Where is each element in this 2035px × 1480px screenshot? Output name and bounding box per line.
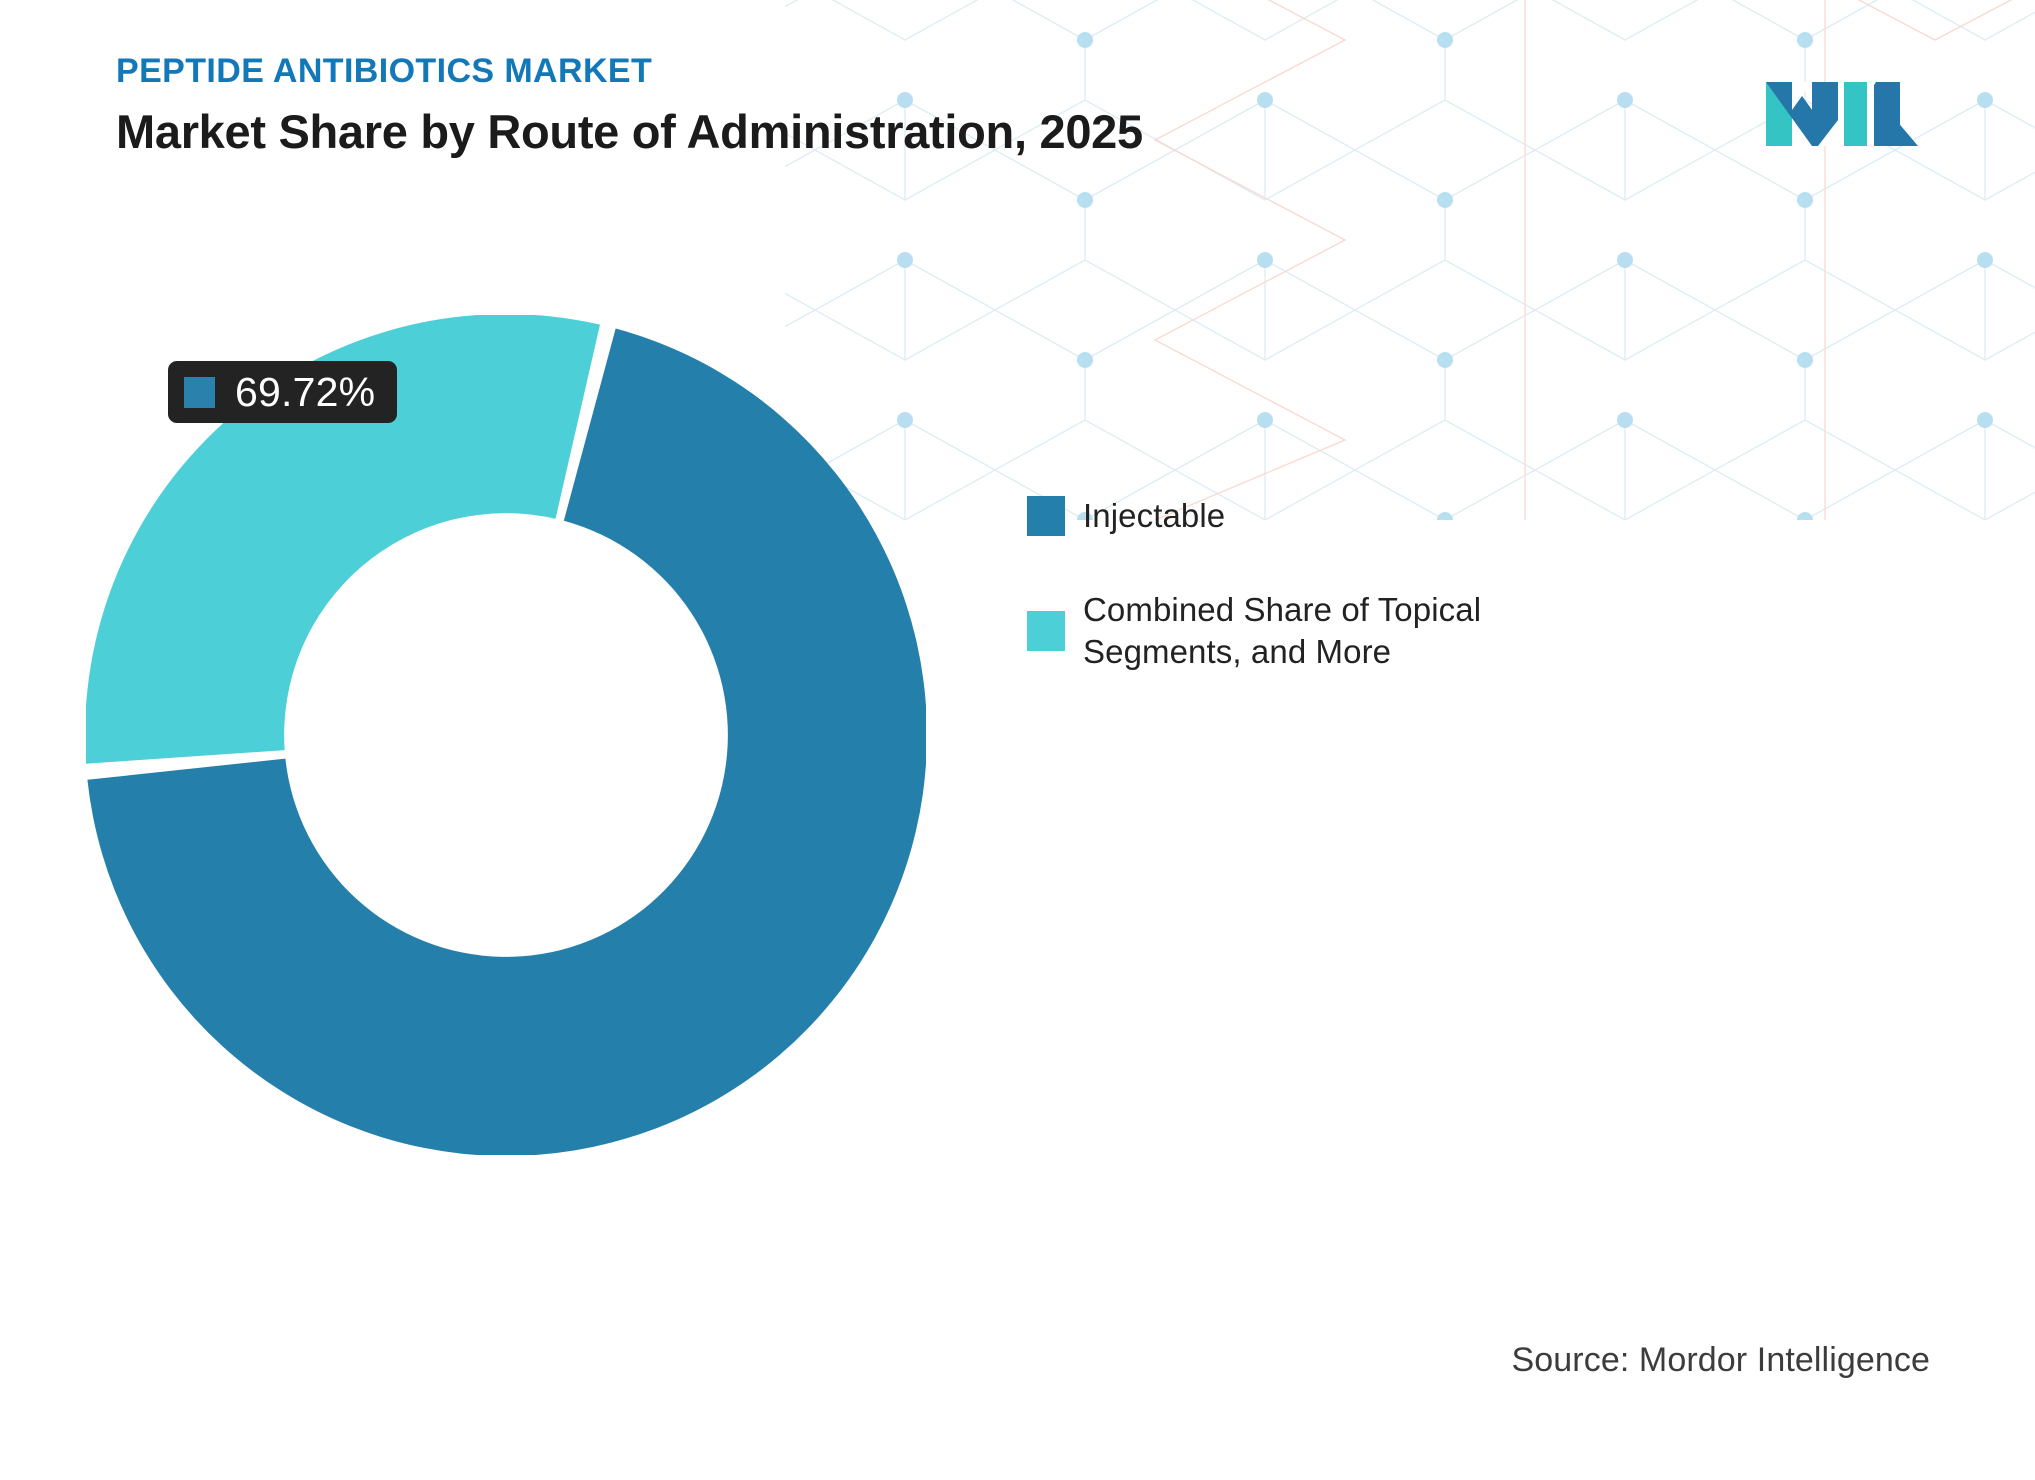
donut-chart <box>86 315 926 1155</box>
legend-item-injectable[interactable]: Injectable <box>1027 495 1667 537</box>
data-label-callout: 69.72% <box>168 361 397 423</box>
mordor-intelligence-logo-icon <box>1766 74 1918 154</box>
legend-item-combined-topical[interactable]: Combined Share of Topical Segments, and … <box>1027 589 1667 673</box>
callout-color-swatch <box>184 377 215 408</box>
legend-swatch-combined-topical <box>1027 611 1065 651</box>
legend-label-combined-topical: Combined Share of Topical Segments, and … <box>1083 589 1513 673</box>
chart-legend: Injectable Combined Share of Topical Seg… <box>1027 495 1667 726</box>
chart-header: PEPTIDE ANTIBIOTICS MARKET Market Share … <box>116 50 1616 161</box>
legend-swatch-injectable <box>1027 496 1065 536</box>
chart-main-title: Market Share by Route of Administration,… <box>116 103 1616 162</box>
source-attribution: Source: Mordor Intelligence <box>1512 1341 1930 1380</box>
chart-eyebrow-title: PEPTIDE ANTIBIOTICS MARKET <box>116 50 1616 93</box>
callout-value-text: 69.72% <box>235 372 375 413</box>
chart-page: PEPTIDE ANTIBIOTICS MARKET Market Share … <box>0 0 2035 1480</box>
legend-label-injectable: Injectable <box>1083 495 1225 537</box>
